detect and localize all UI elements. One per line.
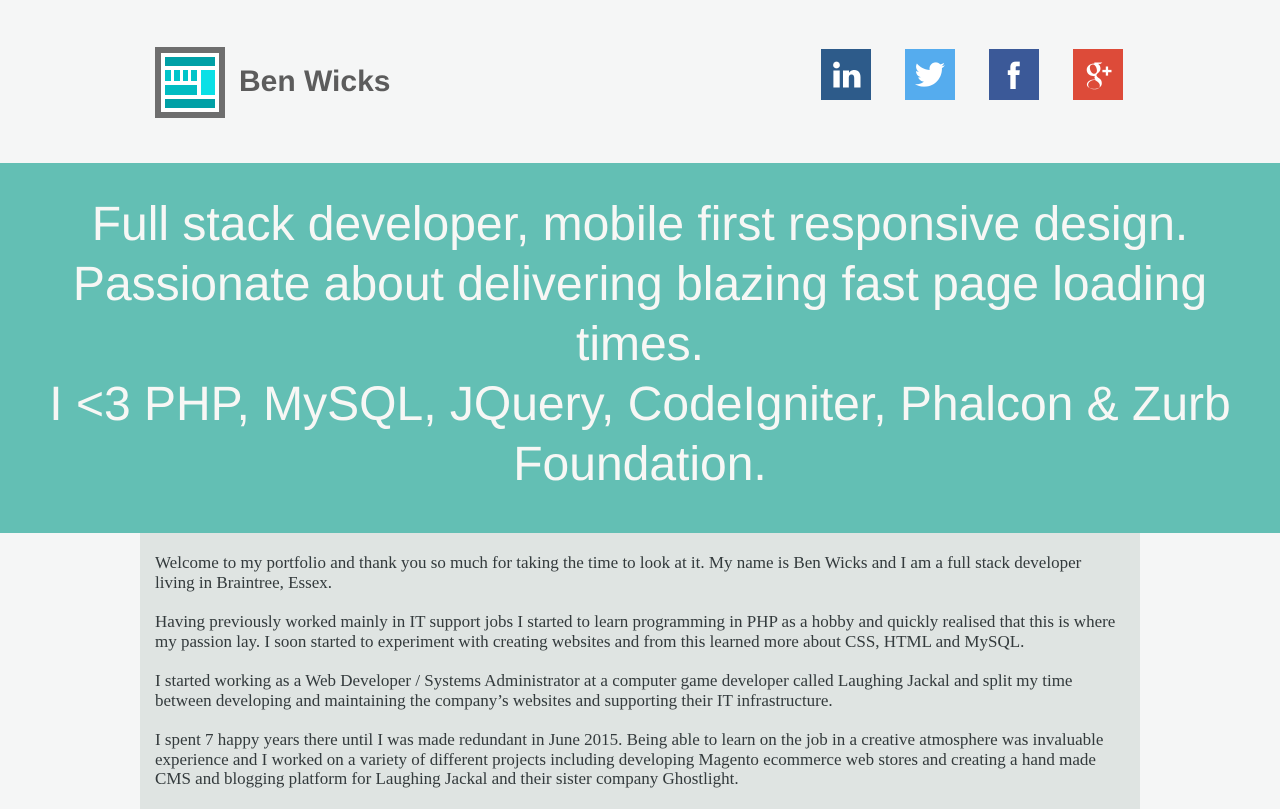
hero-banner: Full stack developer, mobile first respo… — [0, 163, 1280, 533]
hero-headline-secondary: I <3 PHP, MySQL, JQuery, CodeIgniter, Ph… — [24, 375, 1256, 495]
logo-nav-box — [165, 70, 171, 81]
logo-nav-row — [165, 70, 197, 81]
about-content-panel: Welcome to my portfolio and thank you so… — [140, 533, 1140, 809]
brand-logo-link[interactable]: Ben Wicks — [155, 47, 390, 118]
brand-name: Ben Wicks — [239, 65, 390, 98]
site-header: Ben Wicks — [0, 0, 1280, 163]
about-paragraph: I spent 7 happy years there until I was … — [155, 730, 1125, 789]
logo-header-bar — [165, 57, 215, 66]
hero-headline-primary: Full stack developer, mobile first respo… — [24, 195, 1256, 375]
social-links — [821, 49, 1123, 100]
logo-footer-bar — [165, 99, 215, 108]
googleplus-icon[interactable] — [1073, 49, 1123, 100]
logo-content-block — [165, 85, 197, 95]
brand-name-wrap: Ben Wicks — [239, 67, 390, 99]
logo-sidebar-block — [201, 70, 215, 95]
about-paragraph: I started working as a Web Developer / S… — [155, 671, 1125, 710]
linkedin-icon[interactable] — [821, 49, 871, 100]
facebook-icon[interactable] — [989, 49, 1039, 100]
about-paragraph: Welcome to my portfolio and thank you so… — [155, 553, 1125, 592]
main-region: Welcome to my portfolio and thank you so… — [0, 533, 1280, 809]
twitter-icon[interactable] — [905, 49, 955, 100]
about-paragraph: Having previously worked mainly in IT su… — [155, 612, 1125, 651]
logo-nav-box — [174, 70, 180, 81]
website-wireframe-logo-icon — [155, 47, 225, 118]
logo-nav-box — [183, 70, 189, 81]
logo-nav-box — [191, 70, 197, 81]
